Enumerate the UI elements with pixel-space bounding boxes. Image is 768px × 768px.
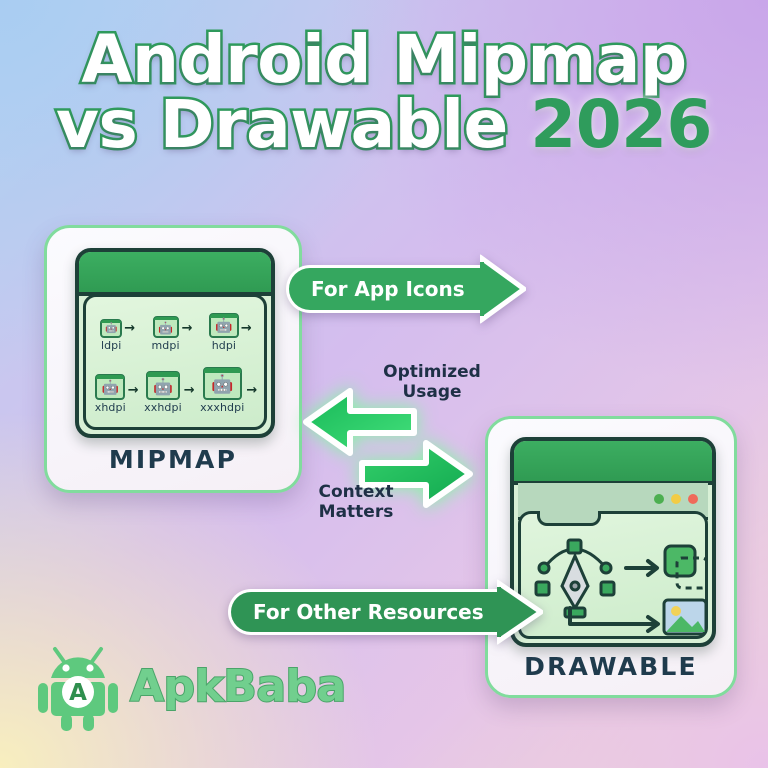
arrow-right-icon: →	[241, 322, 252, 352]
density-folder-icon: 🤖	[203, 367, 242, 400]
density-folder-icon: 🤖	[146, 371, 180, 400]
density-cell: 🤖 xxhdpi →	[144, 371, 195, 414]
arrow-head-icon	[480, 253, 526, 325]
drawable-card-label: DRAWABLE	[488, 652, 734, 681]
banner-other-resources-label: For Other Resources	[228, 589, 498, 635]
infographic-poster: Android Mipmap vs Drawable 2026 🤖	[0, 0, 768, 768]
banner-app-icons-label: For App Icons	[286, 265, 481, 313]
label-context-line2: Matters	[308, 502, 404, 522]
mipmap-card-label: MIPMAP	[47, 445, 299, 474]
density-label: xxxhdpi	[200, 401, 244, 414]
density-grid: 🤖 ldpi → 🤖	[92, 305, 260, 421]
arrow-right-icon	[626, 561, 657, 575]
android-robot-icon: 🤖	[215, 319, 232, 333]
label-optimized-line1: Optimized	[376, 362, 488, 382]
arrow-right-icon: →	[184, 384, 195, 414]
density-cell: 🤖 hdpi →	[209, 313, 252, 352]
android-robot-icon: 🤖	[158, 322, 173, 334]
logo-badge-letter: A	[69, 680, 87, 706]
arrow-right-icon: →	[128, 384, 139, 414]
label-context-line1: Context	[308, 482, 404, 502]
title-line-1: Android Mipmap	[0, 28, 768, 93]
banner-for-app-icons[interactable]: For App Icons	[286, 253, 526, 325]
density-cell: 🤖 mdpi →	[151, 316, 192, 352]
folder-body: 🤖 ldpi → 🤖	[83, 294, 267, 430]
mipmap-folder-icon: 🤖 ldpi → 🤖	[75, 248, 275, 438]
density-label: mdpi	[151, 339, 179, 352]
title-line-2-text: vs Drawable	[56, 86, 530, 163]
window-controls	[654, 494, 698, 504]
label-optimized-line2: Usage	[376, 382, 488, 402]
drawable-card[interactable]: DRAWABLE	[485, 416, 737, 698]
label-context-matters: Context Matters	[308, 482, 404, 522]
density-label: xxhdpi	[144, 401, 182, 414]
arrow-head-icon	[497, 576, 543, 648]
pen-tool-icon	[536, 540, 614, 617]
arrow-right-icon: →	[124, 322, 135, 352]
folder-tab	[79, 252, 271, 294]
drawable-icons-group	[522, 524, 708, 646]
mipmap-card[interactable]: 🤖 ldpi → 🤖	[44, 225, 302, 493]
density-folder-icon: 🤖	[153, 316, 179, 338]
arrow-right-icon: →	[246, 384, 257, 414]
density-label: hdpi	[212, 339, 236, 352]
banner-for-other-resources[interactable]: For Other Resources	[228, 576, 543, 648]
density-row-1: 🤖 ldpi → 🤖	[92, 313, 260, 352]
image-photo-icon	[664, 600, 706, 634]
density-label: ldpi	[101, 339, 121, 352]
density-cell: 🤖 ldpi →	[100, 319, 135, 352]
density-row-2: 🤖 xhdpi → 🤖	[92, 367, 260, 414]
android-robot-icon: 🤖	[105, 324, 117, 334]
folder-tab	[514, 441, 712, 483]
window-dot-green-icon	[654, 494, 664, 504]
window-dot-yellow-icon	[671, 494, 681, 504]
title-year: 2026	[530, 86, 712, 163]
density-folder-icon: 🤖	[95, 374, 125, 400]
arrow-right-icon: →	[182, 322, 193, 352]
title-line-2: vs Drawable 2026	[0, 93, 768, 158]
density-cell: 🤖 xhdpi →	[95, 374, 139, 414]
apkbaba-logo[interactable]: A ApkBaba	[38, 640, 346, 732]
logo-wordmark: ApkBaba	[130, 661, 346, 712]
window-dot-red-icon	[688, 494, 698, 504]
shape-vector-icon	[665, 546, 707, 588]
density-label: xhdpi	[95, 401, 126, 414]
density-folder-icon: 🤖	[209, 313, 239, 338]
label-optimized-usage: Optimized Usage	[376, 362, 488, 402]
android-robot-icon: 🤖	[211, 376, 233, 394]
android-robot-icon: 🤖	[102, 381, 119, 395]
drawable-content-panel	[518, 511, 708, 639]
page-title: Android Mipmap vs Drawable 2026	[0, 28, 768, 157]
density-folder-icon: 🤖	[100, 319, 122, 338]
android-robot-logo-icon: A	[38, 640, 120, 732]
density-cell: 🤖 xxxhdpi →	[200, 367, 257, 414]
android-robot-icon: 🤖	[153, 379, 173, 395]
